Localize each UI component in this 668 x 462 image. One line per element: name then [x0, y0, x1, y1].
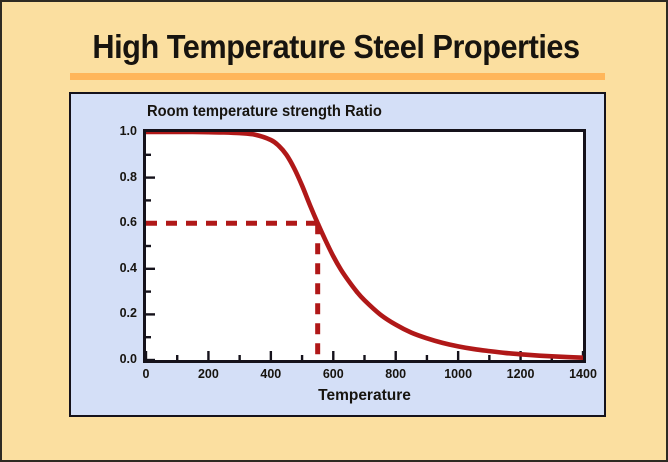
title-block: High Temperature Steel Properties — [2, 28, 668, 66]
page-title: High Temperature Steel Properties — [25, 28, 646, 66]
x-tick-label: 200 — [183, 367, 233, 381]
x-tick-label: 800 — [371, 367, 421, 381]
x-axis-title: Temperature — [146, 387, 583, 405]
plot-area — [143, 129, 586, 363]
x-tick-label: 600 — [308, 367, 358, 381]
x-tick-label: 1000 — [433, 367, 483, 381]
chart-title: Room temperature strength Ratio — [147, 103, 382, 121]
y-tick-label: 0.0 — [95, 352, 137, 366]
x-tick-label: 1200 — [496, 367, 546, 381]
y-tick-label: 0.4 — [95, 261, 137, 275]
y-tick-label: 1.0 — [95, 124, 137, 138]
slide-canvas: High Temperature Steel Properties Room t… — [0, 0, 668, 462]
x-tick-label: 400 — [246, 367, 296, 381]
y-tick-label: 0.6 — [95, 215, 137, 229]
x-tick-label: 0 — [121, 367, 171, 381]
title-underline-rule — [70, 73, 605, 80]
chart-panel: Room temperature strength Ratio 0.00.20.… — [69, 92, 606, 417]
plot-svg — [146, 132, 583, 360]
x-tick-label: 1400 — [558, 367, 608, 381]
y-tick-label: 0.2 — [95, 306, 137, 320]
y-tick-label: 0.8 — [95, 170, 137, 184]
